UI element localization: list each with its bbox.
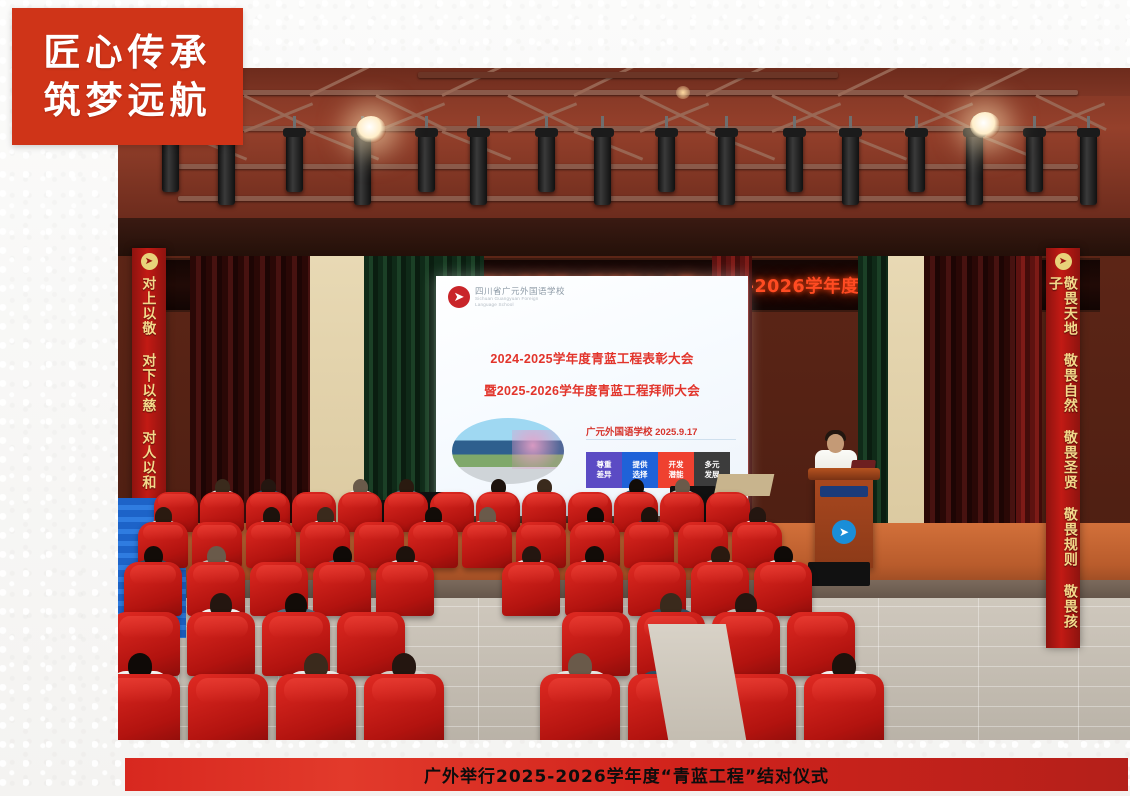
banner-left-mark-icon: ➤ <box>141 253 158 270</box>
proscenium-header <box>118 218 1130 256</box>
slide-logo-cn: 四川省广元外国语学校 <box>475 287 565 296</box>
slide-date-line: 广元外国语学校 2025.9.17 <box>586 422 736 440</box>
banner-right-mark-icon: ➤ <box>1055 253 1072 270</box>
caption-text: 广外举行2025-2026学年度“青蓝工程”结对仪式 <box>424 762 829 787</box>
slide-headline-2: 暨2025-2026学年度青蓝工程拜师大会 <box>436 380 748 399</box>
caption-bar: 广外举行2025-2026学年度“青蓝工程”结对仪式 <box>125 758 1128 791</box>
slide-value-boxes: 尊重差异提供选择开发潜能多元发展 <box>586 452 730 488</box>
speaker-head <box>827 434 844 453</box>
projection-screen: ➤ 四川省广元外国语学校 Sichuan Guangyuan Foreign L… <box>436 276 748 516</box>
slide-value-box-1: 尊重差异 <box>586 452 622 488</box>
slide-campus-photo <box>452 418 564 484</box>
slide-logo: ➤ 四川省广元外国语学校 Sichuan Guangyuan Foreign L… <box>448 286 565 308</box>
podium-top-surface <box>808 468 880 480</box>
audience-area <box>118 488 1130 740</box>
event-photograph: 广元外国语学校2024-2025学年度青蓝工程表彰大会暨2025-2026学年度… <box>118 68 1130 740</box>
slide-headline-1: 2024-2025学年度青蓝工程表彰大会 <box>436 348 748 367</box>
slogan-badge: 匠心传承 筑梦远航 <box>12 8 243 145</box>
slogan-line-2: 筑梦远航 <box>44 77 212 124</box>
bird-logo-icon: ➤ <box>448 286 470 308</box>
slide-logo-en-2: Language School <box>475 302 565 308</box>
slogan-line-1: 匠心传承 <box>44 29 212 76</box>
